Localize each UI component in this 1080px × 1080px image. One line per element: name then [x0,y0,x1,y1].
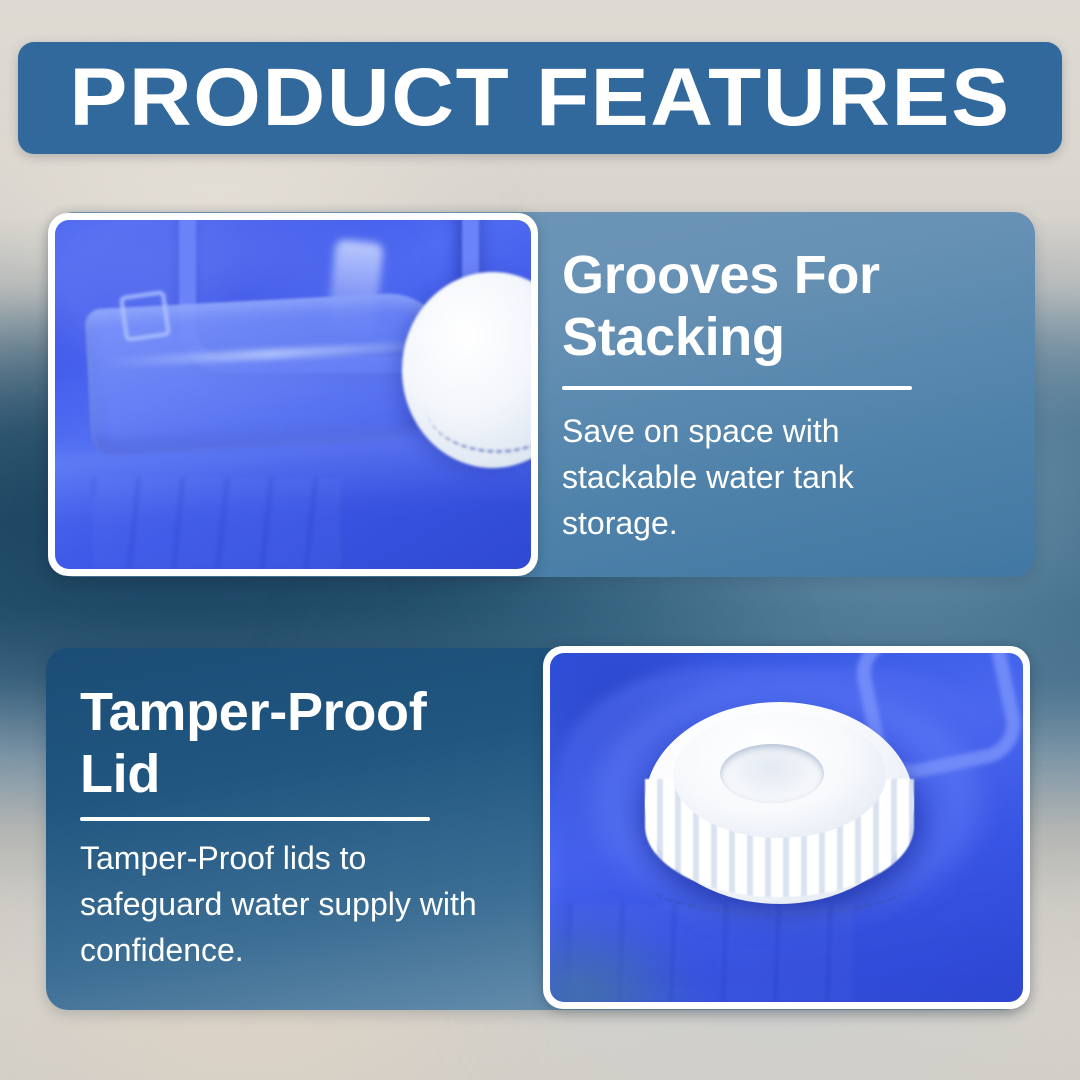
feature-title-tamper-proof: Tamper-Proof Lid [80,682,480,805]
feature-description-tamper-proof: Tamper-Proof lids to safeguard water sup… [80,835,480,973]
feature-divider-tamper-proof [80,817,430,821]
tank-notch [119,290,171,342]
header-banner: PRODUCT FEATURES [18,42,1062,154]
feature-divider-grooves [562,386,912,390]
feature-image-grooves-inner [55,220,531,569]
tank-corner-shade [550,918,692,1002]
feature-title-grooves: Grooves For Stacking [562,245,962,368]
page-title: PRODUCT FEATURES [69,57,1010,139]
feature-image-tamper-proof [543,646,1030,1009]
cap-center-port [720,744,824,803]
feature-description-grooves: Save on space with stackable water tank … [562,408,962,546]
feature-image-tamper-proof-inner [550,653,1023,1002]
feature-text-grooves: Grooves For Stacking Save on space with … [562,245,962,546]
product-features-infographic: PRODUCT FEATURES Grooves For Stacking Sa… [0,0,1080,1080]
feature-image-grooves [48,213,538,576]
feature-text-tamper-proof: Tamper-Proof Lid Tamper-Proof lids to sa… [80,682,480,973]
tank-ribs [93,478,341,569]
